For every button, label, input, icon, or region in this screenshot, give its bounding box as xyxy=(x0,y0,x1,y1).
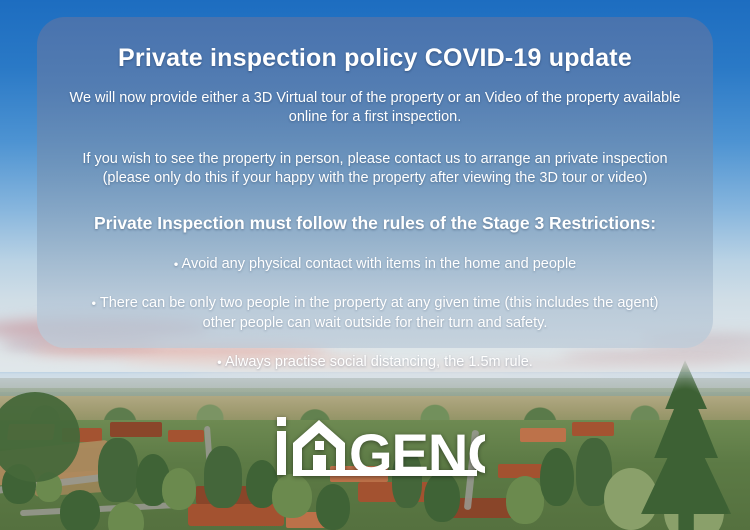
tree xyxy=(316,484,350,530)
bullet-icon: • xyxy=(174,256,179,271)
policy-paragraph-2: If you wish to see the property in perso… xyxy=(69,150,681,189)
house-roof xyxy=(110,422,162,437)
logo-underline xyxy=(293,470,477,476)
list-item-label: There can be only two people in the prop… xyxy=(100,295,659,331)
list-item-label: Avoid any physical contact with items in… xyxy=(182,256,577,272)
tree xyxy=(272,474,312,518)
house-icon xyxy=(293,420,345,475)
iagency-logo: GENCY xyxy=(275,415,485,477)
logo-i-dot xyxy=(277,417,286,426)
tree xyxy=(60,490,100,530)
list-item: • Avoid any physical contact with items … xyxy=(75,255,675,275)
list-item: • Always practise social distancing, the… xyxy=(75,353,675,373)
list-item-label: Always practise social distancing, the 1… xyxy=(225,354,533,370)
restrictions-list: • Avoid any physical contact with items … xyxy=(59,255,691,373)
policy-overlay-panel: Private inspection policy COVID-19 updat… xyxy=(37,17,713,348)
tree xyxy=(98,438,138,502)
page-title: Private inspection policy COVID-19 updat… xyxy=(59,45,691,73)
covid-policy-banner: Private inspection policy COVID-19 updat… xyxy=(0,0,750,530)
house-roof xyxy=(188,504,284,526)
policy-paragraph-1: We will now provide either a 3D Virtual … xyxy=(69,89,681,128)
tree xyxy=(506,476,544,524)
tree xyxy=(540,448,574,506)
logo-i-stem xyxy=(277,431,286,475)
list-item: • There can be only two people in the pr… xyxy=(75,294,675,333)
house-roof xyxy=(572,422,614,436)
restrictions-subheading: Private Inspection must follow the rules… xyxy=(59,213,691,235)
tree xyxy=(204,446,242,508)
tree xyxy=(424,472,460,522)
house-roof xyxy=(520,428,566,442)
house-roof xyxy=(168,430,204,442)
bullet-icon: • xyxy=(92,296,97,311)
logo-wordmark: GENCY xyxy=(349,422,485,477)
bullet-icon: • xyxy=(217,355,222,370)
tree xyxy=(162,468,196,510)
